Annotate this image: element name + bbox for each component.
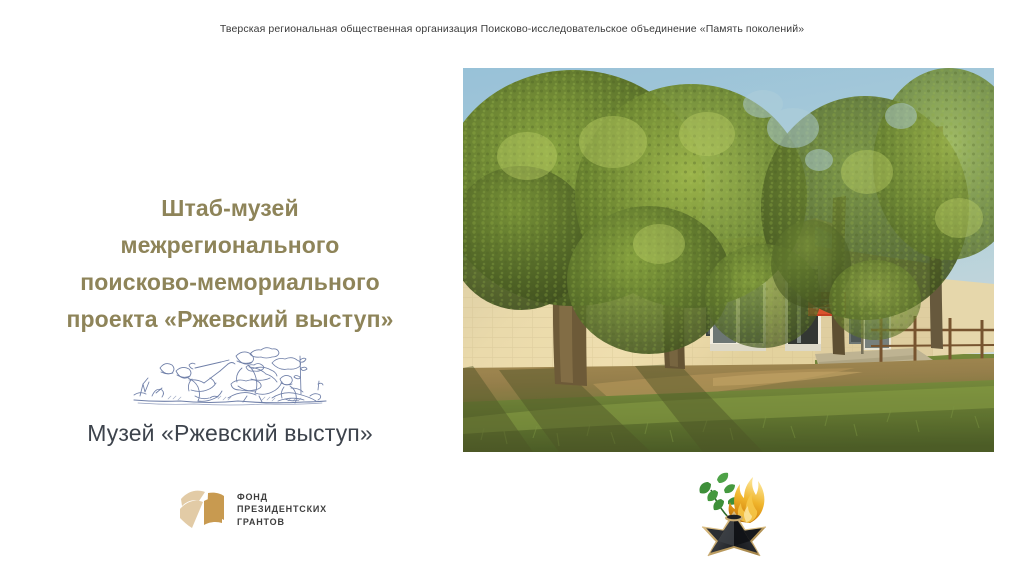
organization-header: Тверская региональная общественная орган…: [0, 22, 1024, 36]
page-title-line-3: поисково-мемориального: [20, 264, 440, 301]
page-title: Штаб-музей межрегионального поисково-мем…: [20, 190, 440, 338]
page-title-line-2: межрегионального: [20, 227, 440, 264]
museum-name: Музей «Ржевский выступ»: [20, 418, 440, 448]
page-title-line-1: Штаб-музей: [20, 190, 440, 227]
eternal-flame-star-emblem: [688, 468, 780, 558]
museum-building-photo: [463, 68, 994, 452]
fund-logo-text: ФОНД ПРЕЗИДЕНТСКИХ ГРАНТОВ: [237, 491, 327, 529]
fund-text-line-1: ФОНД: [237, 491, 327, 504]
presidential-grants-fund-logo: ФОНД ПРЕЗИДЕНТСКИХ ГРАНТОВ: [178, 487, 327, 532]
title-block: Штаб-музей межрегионального поисково-мем…: [20, 190, 440, 448]
fund-text-line-2: ПРЕЗИДЕНТСКИХ: [237, 503, 327, 516]
battle-scene-illustration: [132, 346, 328, 408]
fund-text-line-3: ГРАНТОВ: [237, 516, 327, 529]
fund-flag-icon: [178, 487, 226, 532]
page-title-line-4: проекта «Ржевский выступ»: [20, 301, 440, 338]
